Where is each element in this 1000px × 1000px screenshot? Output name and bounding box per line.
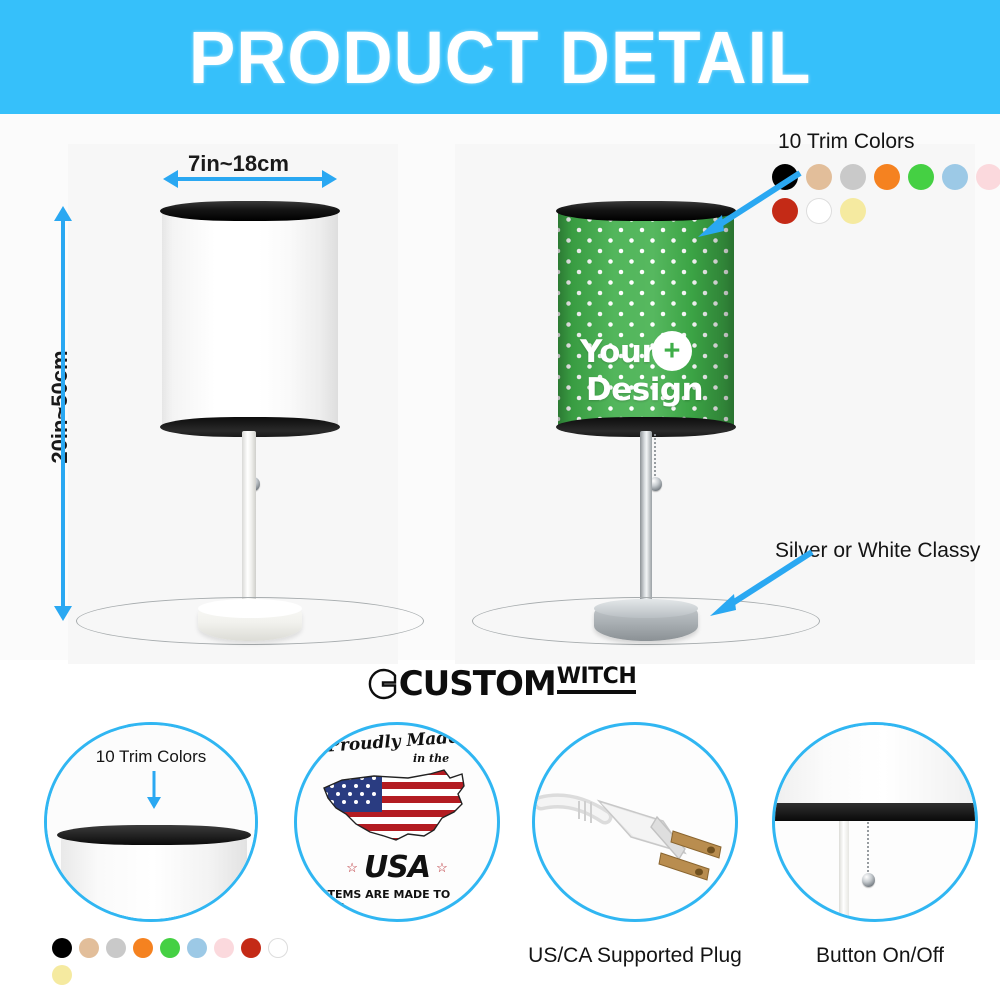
- add-design-plus-icon[interactable]: +: [652, 331, 692, 371]
- switch-panel: [772, 722, 978, 922]
- panel-trim-colors-label: 10 Trim Colors: [47, 747, 255, 767]
- width-arrow-head-right: [322, 170, 337, 188]
- made-in-usa-panel: Proudly Made in the: [294, 722, 500, 922]
- plug-panel: [532, 722, 738, 922]
- swatch-orange[interactable]: [874, 164, 900, 190]
- switch-pull-chain[interactable]: [867, 821, 869, 875]
- lamp-green-base-top: [594, 599, 698, 618]
- swatch-yellow[interactable]: [52, 965, 72, 985]
- page-title: PRODUCT DETAIL: [189, 15, 811, 100]
- trim-colors-top-arrow: [690, 169, 810, 239]
- height-arrow-head-bottom: [54, 606, 72, 621]
- trim-colors-top-label: 10 Trim Colors: [778, 130, 915, 154]
- width-arrow-line: [175, 177, 325, 181]
- swatch-tan[interactable]: [79, 938, 99, 958]
- swatch-pink[interactable]: [214, 938, 234, 958]
- height-arrow-line: [61, 218, 65, 608]
- usa-star-right-icon: ☆: [436, 860, 448, 876]
- height-arrow-head-top: [54, 206, 72, 221]
- swatch-gray[interactable]: [106, 938, 126, 958]
- swatch-white[interactable]: [268, 938, 288, 958]
- swatch-orange[interactable]: [133, 938, 153, 958]
- switch-pole: [839, 821, 849, 922]
- swatch-gray[interactable]: [840, 164, 866, 190]
- switch-shade-upper: [775, 725, 975, 809]
- switch-panel-caption: Button On/Off: [780, 944, 980, 968]
- usa-map-flag-icon: [312, 760, 482, 852]
- plug-panel-caption: US/CA Supported Plug: [500, 944, 770, 968]
- swatch-red[interactable]: [241, 938, 261, 958]
- plug-icon: [535, 725, 735, 919]
- trim-colors-bottom-swatches: [52, 938, 302, 985]
- swatch-yellow[interactable]: [840, 198, 866, 224]
- logo-c-icon: [364, 667, 398, 701]
- panel-trim-colors-arrow: [141, 771, 167, 811]
- design-text-line1: Your: [580, 337, 656, 368]
- usa-tagline-text: ALL ITEMS ARE MADE TO ORDER!: [297, 888, 497, 914]
- lamp-white-base: [198, 599, 302, 641]
- lamp-green-pole: [640, 431, 652, 623]
- usa-star-left-icon: ☆: [346, 860, 358, 876]
- base-finish-arrow: [700, 544, 820, 624]
- lamp-white-trim-top: [160, 201, 340, 221]
- main-stage: 7in~18cm 20in~50cm: [0, 114, 1000, 660]
- panel-shade-trim: [57, 825, 251, 845]
- lamp-white: [140, 199, 360, 644]
- usa-badge: Proudly Made in the: [297, 725, 497, 919]
- usa-word-text: USA: [364, 850, 430, 885]
- swatch-pink[interactable]: [976, 164, 1000, 190]
- logo-main-text: CUSTOM: [399, 664, 556, 704]
- trim-colors-panel: 10 Trim Colors: [44, 722, 258, 922]
- lamp-green-pull-chain[interactable]: [654, 433, 656, 479]
- lamp-white-shade-surface: [162, 209, 338, 431]
- switch-chain-ball[interactable]: [862, 873, 875, 887]
- logo-sub-text: WITCH: [557, 664, 637, 694]
- swatch-light-blue[interactable]: [942, 164, 968, 190]
- swatch-green[interactable]: [160, 938, 180, 958]
- width-arrow-head-left: [163, 170, 178, 188]
- header-banner: PRODUCT DETAIL: [0, 0, 1000, 114]
- design-text-line2: Design: [586, 375, 703, 406]
- swatch-black[interactable]: [52, 938, 72, 958]
- brand-logo: CUSTOM WITCH: [0, 660, 1000, 708]
- lamp-white-base-top: [198, 599, 302, 618]
- swatch-light-blue[interactable]: [187, 938, 207, 958]
- lamp-white-pole: [242, 431, 256, 623]
- width-dimension-label: 7in~18cm: [188, 151, 289, 177]
- panel-shade-fragment: [61, 833, 247, 922]
- lamp-green-base: [594, 599, 698, 641]
- height-dimension-label: 20in~50cm: [47, 327, 73, 487]
- swatch-green[interactable]: [908, 164, 934, 190]
- product-detail-infographic: PRODUCT DETAIL 7in~18cm 20in~50cm: [0, 0, 1000, 1000]
- lamp-white-shade: [162, 209, 338, 431]
- switch-trim-bar: [772, 803, 978, 821]
- lamp-green-shade: Your + Design: [558, 209, 734, 431]
